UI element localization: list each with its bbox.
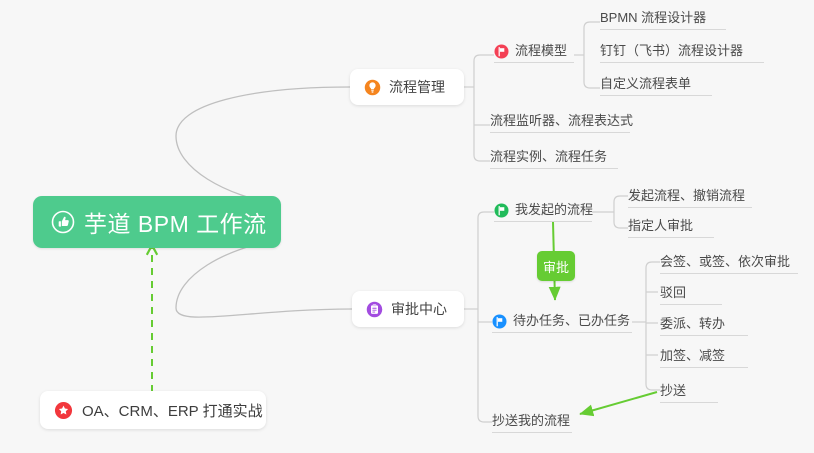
edge-ac-trunk-down bbox=[478, 309, 492, 422]
branch-node-approval-center[interactable]: 审批中心 bbox=[352, 291, 464, 327]
leaf-start-cancel[interactable]: 发起流程、撤销流程 bbox=[628, 186, 752, 208]
aside-node[interactable]: OA、CRM、ERP 打通实战 bbox=[40, 391, 266, 429]
leaf-add-remove-sign[interactable]: 加签、减签 bbox=[660, 346, 748, 368]
edge-pm-trunk bbox=[474, 55, 494, 87]
leaf-instance-task[interactable]: 流程实例、流程任务 bbox=[490, 147, 618, 169]
leaf-label: 钉钉（飞书）流程设计器 bbox=[600, 40, 743, 59]
arrow-cc-to-ccmy bbox=[580, 392, 657, 414]
leaf-label: 委派、转办 bbox=[660, 313, 725, 332]
aside-node-label: OA、CRM、ERP 打通实战 bbox=[82, 400, 263, 421]
edge-pm-trunk-down bbox=[474, 87, 490, 161]
leaf-listener-expression[interactable]: 流程监听器、流程表达式 bbox=[490, 111, 630, 133]
mindmap-canvas: 芋道 BPM 工作流 OA、CRM、ERP 打通实战 流程管理 bbox=[0, 0, 814, 453]
leaf-bpmn-designer[interactable]: BPMN 流程设计器 bbox=[600, 8, 726, 30]
lightbulb-icon bbox=[364, 79, 381, 96]
subnode-label: 流程模型 bbox=[515, 40, 567, 59]
subnode-label: 待办任务、已办任务 bbox=[513, 310, 630, 329]
annotation-chip-label: 审批 bbox=[543, 257, 569, 276]
leaf-label: 加签、减签 bbox=[660, 345, 725, 364]
edge-model-trunk-up bbox=[584, 22, 600, 55]
subnode-label: 我发起的流程 bbox=[515, 199, 593, 218]
thumbs-up-icon bbox=[51, 210, 75, 234]
leaf-label: 发起流程、撤销流程 bbox=[628, 185, 745, 204]
leaf-dingtalk-feishu-designer[interactable]: 钉钉（飞书）流程设计器 bbox=[600, 41, 764, 63]
leaf-label: 抄送 bbox=[660, 380, 686, 399]
edge-ac-trunk-up bbox=[478, 212, 494, 309]
leaf-delegate-transfer[interactable]: 委派、转办 bbox=[660, 314, 748, 336]
leaf-reject[interactable]: 驳回 bbox=[660, 283, 722, 305]
leaf-label: 指定人审批 bbox=[628, 215, 693, 234]
edge-root-to-approval-center bbox=[176, 239, 352, 317]
leaf-label: 流程实例、流程任务 bbox=[490, 146, 607, 165]
star-badge-icon bbox=[54, 401, 73, 420]
edge-td-trunk-up bbox=[646, 262, 660, 322]
root-node[interactable]: 芋道 BPM 工作流 bbox=[33, 196, 281, 248]
branch-node-process-management[interactable]: 流程管理 bbox=[350, 69, 464, 105]
leaf-label: 驳回 bbox=[660, 282, 686, 301]
flag-green-icon bbox=[494, 203, 509, 218]
edge-mi-trunk-up bbox=[614, 196, 628, 212]
leaf-countersign[interactable]: 会签、或签、依次审批 bbox=[660, 252, 798, 274]
leaf-custom-process-form[interactable]: 自定义流程表单 bbox=[600, 74, 712, 96]
branch-node-label: 审批中心 bbox=[391, 299, 447, 319]
leaf-label: BPMN 流程设计器 bbox=[600, 7, 706, 26]
root-node-label: 芋道 BPM 工作流 bbox=[84, 205, 267, 239]
branch-node-label: 流程管理 bbox=[389, 77, 445, 97]
edge-model-trunk-down bbox=[584, 55, 600, 88]
leaf-label: 抄送我的流程 bbox=[492, 410, 570, 429]
leaf-cc[interactable]: 抄送 bbox=[660, 381, 718, 403]
edge-td-trunk-down bbox=[646, 322, 660, 390]
edge-mi-trunk-down bbox=[614, 212, 628, 228]
leaf-label: 会签、或签、依次审批 bbox=[660, 251, 790, 270]
flag-red-icon bbox=[494, 44, 509, 59]
subnode-my-initiated[interactable]: 我发起的流程 bbox=[494, 200, 592, 222]
subnode-process-model[interactable]: 流程模型 bbox=[494, 41, 574, 63]
annotation-chip-approval[interactable]: 审批 bbox=[537, 251, 575, 281]
subnode-todo-done[interactable]: 待办任务、已办任务 bbox=[492, 311, 632, 333]
clipboard-icon bbox=[366, 301, 383, 318]
edge-root-to-process-management bbox=[176, 87, 350, 205]
flag-blue-icon bbox=[492, 314, 507, 329]
leaf-assignee-approval[interactable]: 指定人审批 bbox=[628, 216, 714, 238]
leaf-label: 流程监听器、流程表达式 bbox=[490, 110, 633, 129]
leaf-cc-my-process[interactable]: 抄送我的流程 bbox=[492, 411, 572, 433]
leaf-label: 自定义流程表单 bbox=[600, 73, 691, 92]
